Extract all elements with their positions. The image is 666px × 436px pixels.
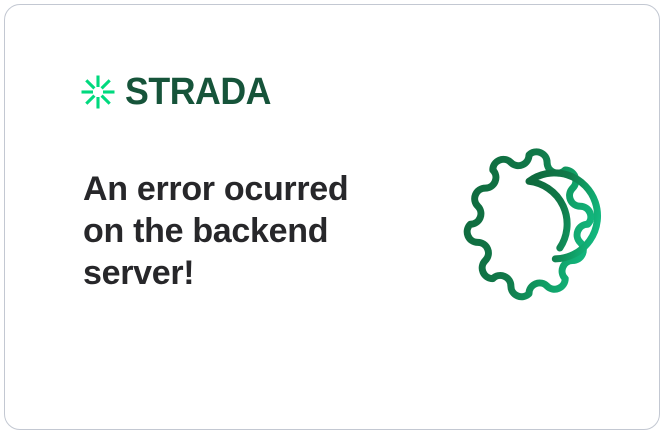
- error-headline: An error ocurred on the backend server!: [83, 168, 383, 294]
- strada-asterisk-icon: [80, 74, 116, 110]
- brand-wordmark: STRADA: [125, 73, 271, 111]
- brand-lockup: STRADA: [80, 73, 280, 111]
- error-screen: STRADA An error ocurred on the backend s…: [0, 0, 666, 436]
- error-card: STRADA An error ocurred on the backend s…: [4, 4, 660, 430]
